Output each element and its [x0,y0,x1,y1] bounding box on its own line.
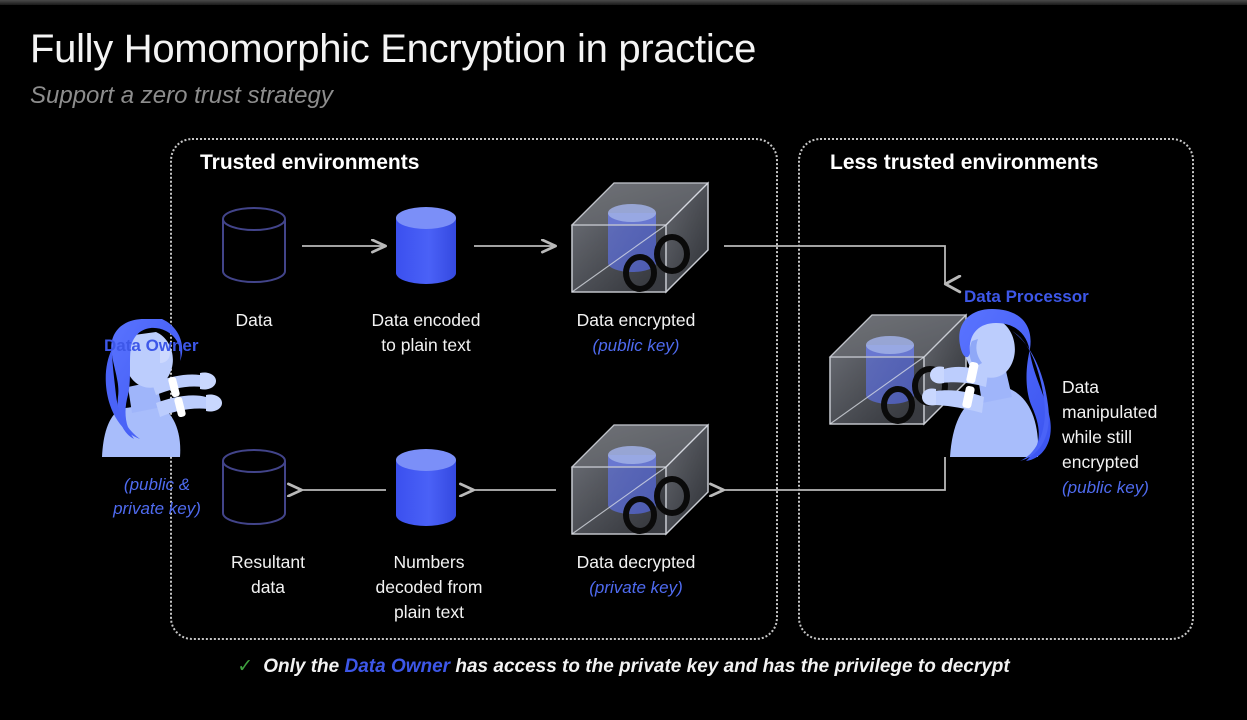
label-processor-note: Data manipulated while still encrypted (… [1062,375,1198,500]
label-data: Data [194,308,314,333]
diagram-artwork [0,5,1247,720]
label-data-encoded: Data encoded to plain text [346,308,506,358]
footer-note: ✓Only the Data Owner has access to the p… [0,655,1247,678]
check-icon: ✓ [237,656,253,677]
connector-to-processor [724,246,945,284]
footer-data-owner-highlight: Data Owner [344,656,450,677]
label-data-owner: Data Owner [104,336,198,356]
label-data-owner-keys: (public & private key) [82,473,232,521]
glovebox-data-encrypted [572,183,708,292]
cylinder-resultant-data [223,450,285,524]
label-numbers-decoded: Numbers decoded from plain text [346,550,512,625]
label-data-decrypted: Data decrypted (private key) [550,550,722,600]
cylinder-data-encoded [396,207,456,284]
label-data-processor: Data Processor [964,287,1089,307]
cylinder-data-plain [223,208,285,282]
label-resultant-data: Resultant data [194,550,342,600]
glovebox-data-decrypted [572,425,708,534]
slide-canvas: Fully Homomorphic Encryption in practice… [0,5,1247,720]
cylinder-numbers-decoded [396,449,456,526]
connector-to-decrypt [724,457,945,490]
label-data-encrypted: Data encrypted (public key) [550,308,722,358]
